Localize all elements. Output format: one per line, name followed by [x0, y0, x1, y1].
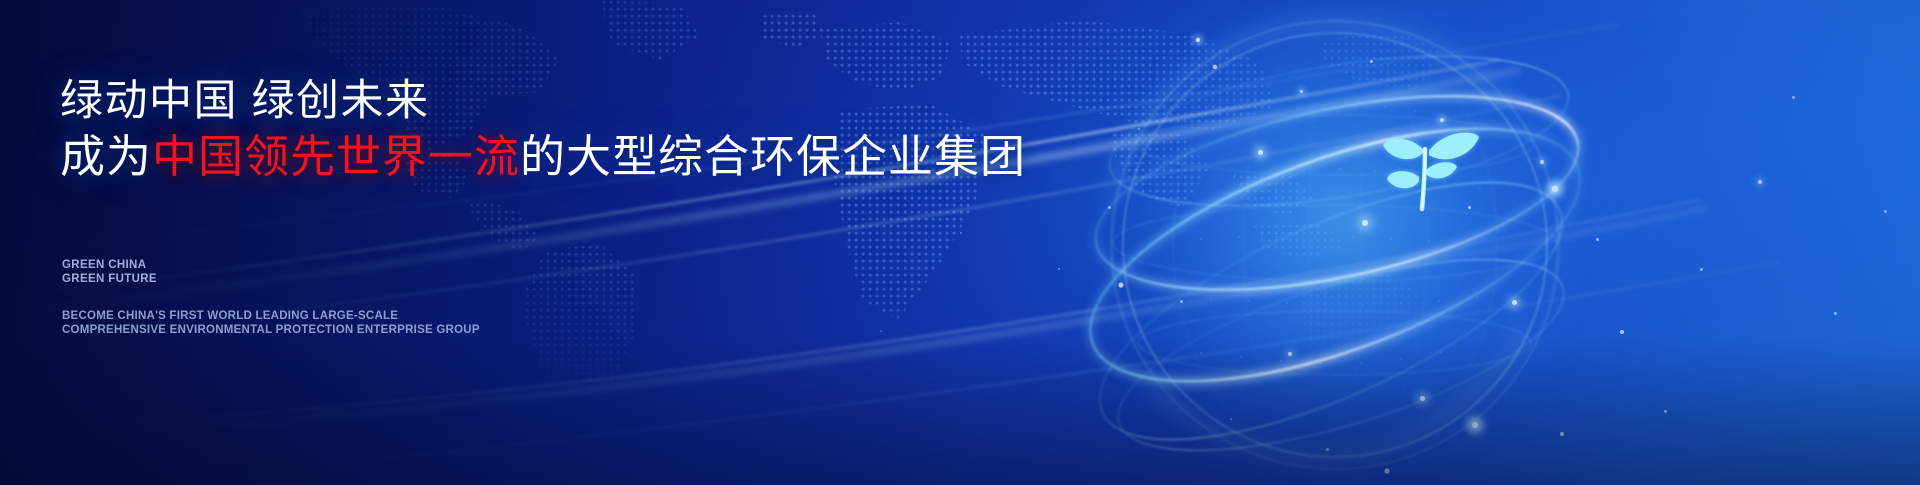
- english-tagline-2: COMPREHENSIVE ENVIRONMENTAL PROTECTION E…: [62, 323, 480, 337]
- headline-line-2: 成为中国领先世界一流的大型综合环保企业集团: [60, 132, 1026, 182]
- english-tagline-1: BECOME CHINA'S FIRST WORLD LEADING LARGE…: [62, 309, 480, 323]
- english-subline: GREEN CHINA GREEN FUTURE: [62, 258, 157, 286]
- headline-line-2-prefix: 成为: [60, 131, 152, 182]
- headline-line-2-suffix: 的大型综合环保企业集团: [520, 131, 1026, 182]
- hero-banner: 绿动中国 绿创未来 成为中国领先世界一流的大型综合环保企业集团 GREEN CH…: [0, 0, 1920, 485]
- banner-copy: 绿动中国 绿创未来 成为中国领先世界一流的大型综合环保企业集团 GREEN CH…: [58, 0, 1058, 485]
- headline-line-1: 绿动中国 绿创未来: [60, 78, 429, 125]
- headline-line-2-highlight: 中国领先世界一流: [152, 131, 520, 182]
- english-subline-1: GREEN CHINA: [62, 258, 157, 272]
- english-tagline: BECOME CHINA'S FIRST WORLD LEADING LARGE…: [62, 309, 480, 337]
- english-subline-2: GREEN FUTURE: [62, 272, 157, 286]
